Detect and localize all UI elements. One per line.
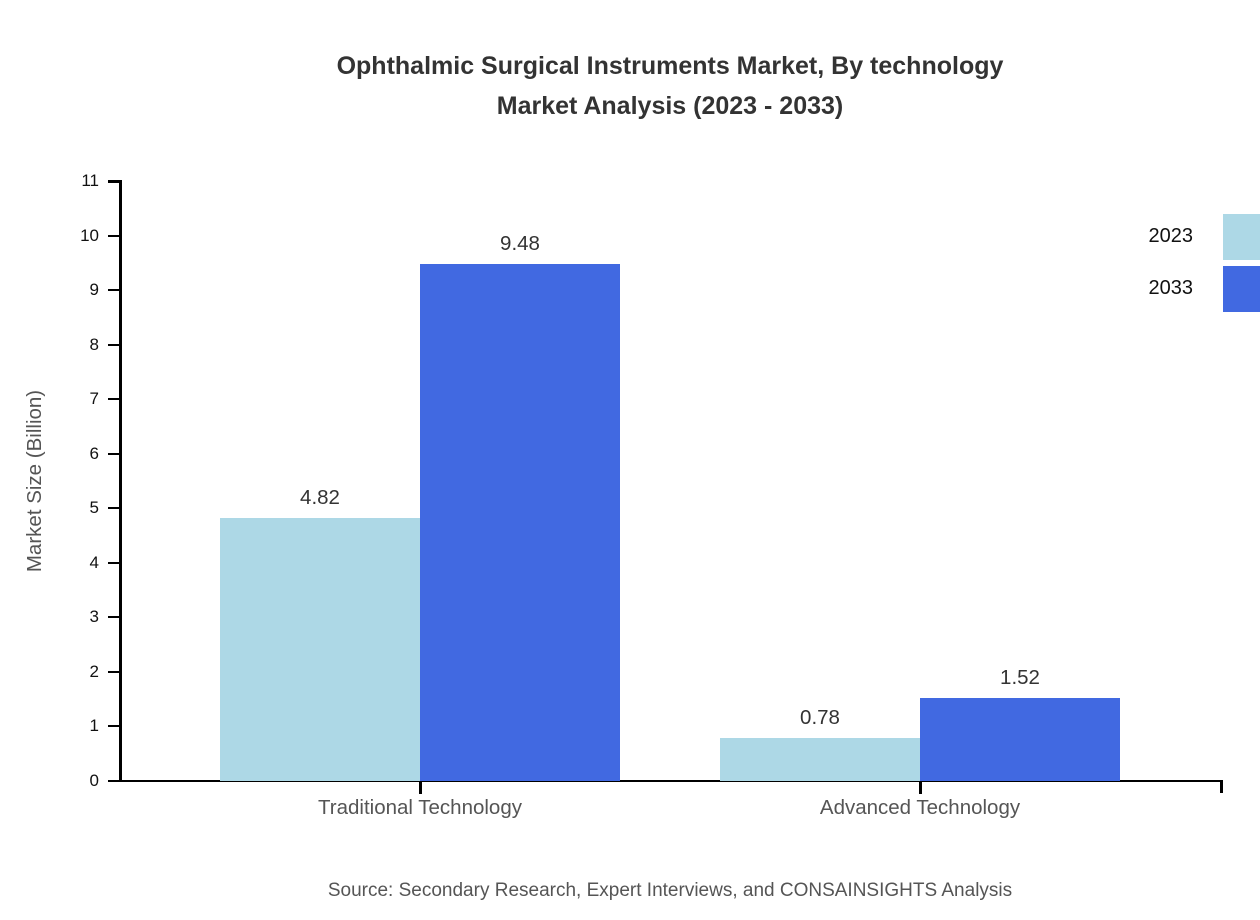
bar-value-label-2033-advanced-technology: 1.52 <box>920 667 1120 689</box>
bar-value-label-2023-traditional-technology: 4.82 <box>220 487 420 509</box>
bar-2033-advanced-technology[interactable] <box>920 698 1120 781</box>
legend-label-2023: 2023 <box>1149 225 1194 247</box>
x-axis-label-advanced-technology: Advanced Technology <box>720 795 1120 821</box>
bars-layer: 4.829.480.781.52 <box>0 181 1260 781</box>
bar-value-label-2033-traditional-technology: 9.48 <box>420 233 620 255</box>
chart-figure: Ophthalmic Surgical Instruments Market, … <box>0 0 1260 920</box>
legend-item-2033[interactable]: 2033 <box>1130 266 1260 318</box>
bar-2023-advanced-technology[interactable] <box>720 738 920 781</box>
chart-title-line-2: Market Analysis (2023 - 2033) <box>0 86 1260 126</box>
legend-label-2033: 2033 <box>1149 277 1194 299</box>
legend-swatch-2023 <box>1223 214 1260 260</box>
legend-item-2023[interactable]: 2023 <box>1130 214 1260 266</box>
x-tick-advanced-technology <box>919 781 922 794</box>
x-tick-traditional-technology <box>419 781 422 794</box>
bar-2033-traditional-technology[interactable] <box>420 264 620 781</box>
x-axis-end-cap-tick <box>1220 780 1223 793</box>
bar-value-label-2023-advanced-technology: 0.78 <box>720 707 920 729</box>
source-note: Source: Secondary Research, Expert Inter… <box>0 878 1260 904</box>
chart-legend: 2023 2033 <box>1130 214 1260 318</box>
bar-2023-traditional-technology[interactable] <box>220 518 420 781</box>
chart-title-line-1: Ophthalmic Surgical Instruments Market, … <box>0 46 1260 86</box>
chart-title: Ophthalmic Surgical Instruments Market, … <box>0 46 1260 126</box>
legend-swatch-2033 <box>1223 266 1260 312</box>
x-axis-label-traditional-technology: Traditional Technology <box>220 795 620 821</box>
